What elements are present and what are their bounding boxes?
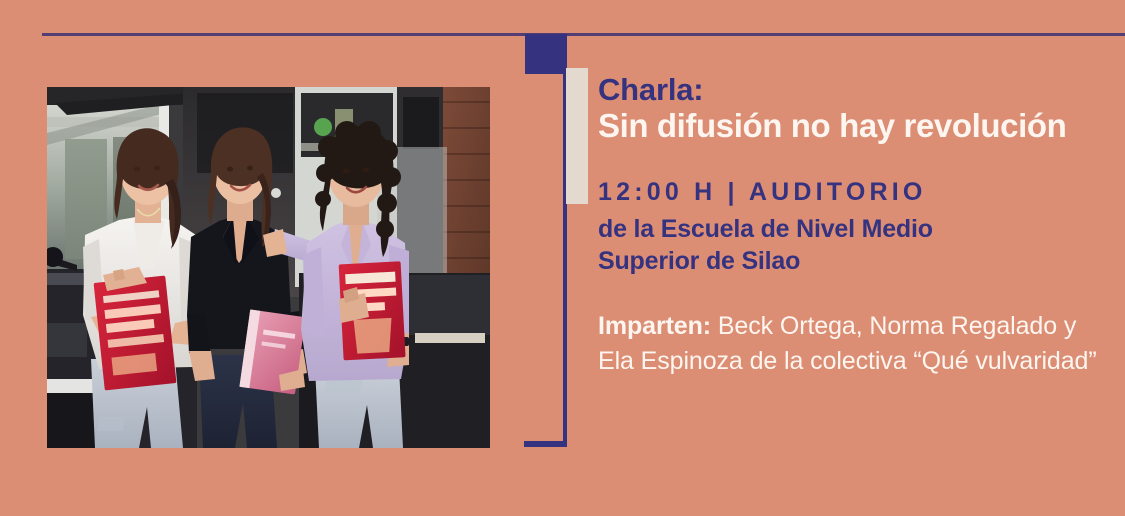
poster-time-venue-line: 12:00 H | AUDITORIO [598,177,1118,207]
event-poster: Charla: Sin difusión no hay revolución 1… [0,0,1125,516]
poster-text-column: Charla: Sin difusión no hay revolución 1… [598,72,1118,380]
navy-foot-rule-decoration [524,441,567,447]
event-photo [47,87,490,448]
poster-speakers-block: Imparten: Beck Ortega, Norma Regalado y … [598,309,1118,380]
poster-venue-block: de la Escuela de Nivel Medio Superior de… [598,213,1118,277]
beige-vertical-bar-decoration [566,68,588,204]
poster-headline: Sin difusión no hay revolución [598,107,1118,145]
venue-line-1: de la Escuela de Nivel Medio [598,213,1118,245]
photo-illustration [47,87,490,448]
speakers-label: Imparten: [598,312,711,340]
navy-square-decoration [525,34,565,74]
poster-kicker: Charla: [598,72,1118,107]
venue-line-2: Superior de Silao [598,245,1118,277]
top-rule-decoration [42,33,1125,36]
